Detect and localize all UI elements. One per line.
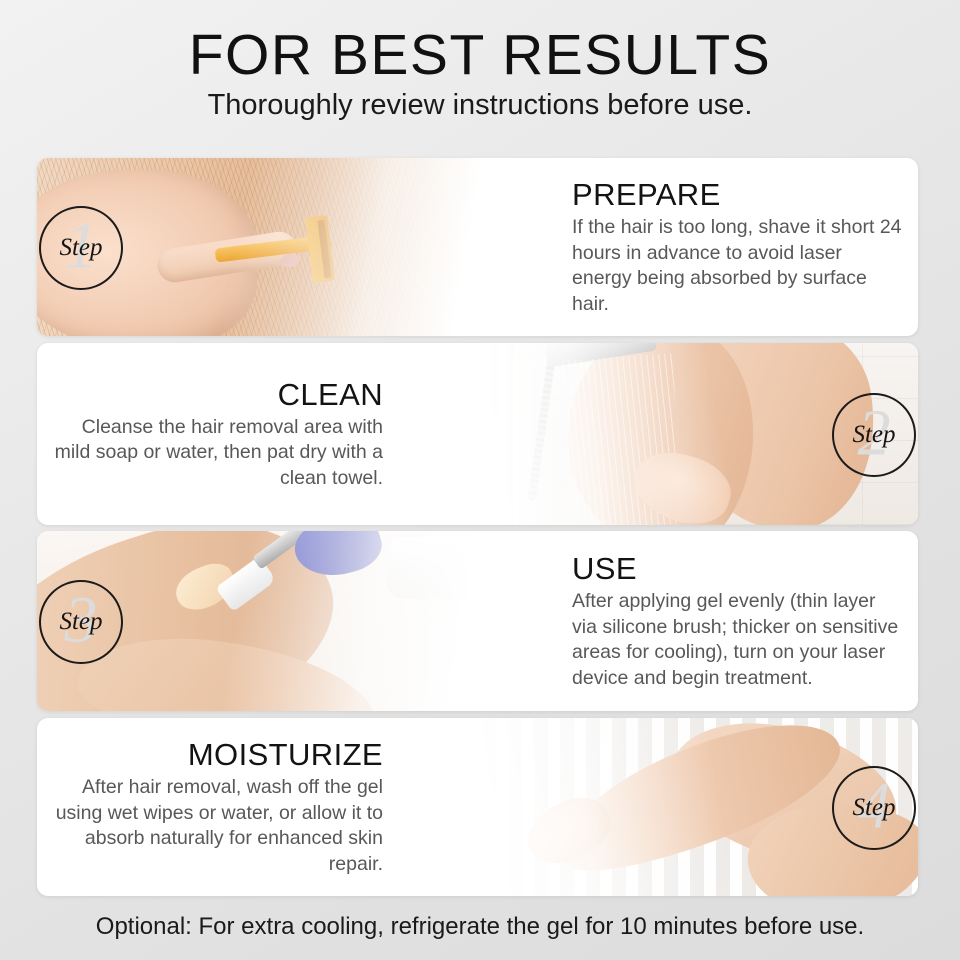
hand-shape <box>625 441 739 525</box>
step-word-3: Step <box>41 608 121 636</box>
step-3-title: USE <box>572 551 637 587</box>
step-card-3: 3 Step USE After applying gel evenly (th… <box>37 531 918 711</box>
step-1-title: PREPARE <box>572 177 721 213</box>
razor-blade-shape <box>317 220 331 278</box>
step-3-text: USE After applying gel evenly (thin laye… <box>478 531 918 711</box>
step-badge-1: 1 Step <box>39 206 123 290</box>
step-badge-4: 4 Step <box>832 766 916 850</box>
step-card-4: 4 Step MOISTURIZE After hair removal, wa… <box>37 718 918 896</box>
step-1-body: If the hair is too long, shave it short … <box>572 215 904 317</box>
showerhead-shape <box>545 343 657 367</box>
footer-note: Optional: For extra cooling, refrigerate… <box>0 912 960 942</box>
step-card-2: 2 Step CLEAN Cleanse the hair removal ar… <box>37 343 918 525</box>
step-card-1: 1 Step PREPARE If the hair is too long, … <box>37 158 918 336</box>
step-badge-3: 3 Step <box>39 580 123 664</box>
silicone-brush-shape <box>215 556 276 612</box>
fingernail-shape <box>279 252 301 269</box>
step-word-1: Step <box>41 234 121 262</box>
knee-shape <box>714 736 800 816</box>
header: FOR BEST RESULTS Thoroughly review instr… <box>0 24 960 122</box>
step-1-text: PREPARE If the hair is too long, shave i… <box>478 158 918 336</box>
step-2-text: CLEAN Cleanse the hair removal area with… <box>37 343 477 525</box>
gel-smear-shape <box>170 557 241 617</box>
finger-shape <box>155 229 299 284</box>
step-4-text: MOISTURIZE After hair removal, wash off … <box>37 718 477 896</box>
gloved-hand-shape <box>289 531 388 586</box>
step-2-title: CLEAN <box>278 377 383 413</box>
leg-shape <box>556 343 764 525</box>
hand-shape <box>517 784 620 877</box>
shin-shape <box>541 718 855 896</box>
water-spray-shape <box>562 353 684 525</box>
brush-handle-shape <box>252 531 308 570</box>
step-word-4: Step <box>834 794 914 822</box>
page-subtitle: Thoroughly review instructions before us… <box>0 88 960 122</box>
page-title: FOR BEST RESULTS <box>0 24 960 86</box>
step-word-2: Step <box>834 421 914 449</box>
razor-head-shape <box>305 215 335 283</box>
step-badge-2: 2 Step <box>832 393 916 477</box>
step-2-body: Cleanse the hair removal area with mild … <box>51 415 383 492</box>
infographic-page: FOR BEST RESULTS Thoroughly review instr… <box>0 0 960 960</box>
razor-handle-shape <box>215 235 326 262</box>
step-4-title: MOISTURIZE <box>188 737 383 773</box>
step-3-body: After applying gel evenly (thin layer vi… <box>572 589 904 691</box>
step-4-body: After hair removal, wash off the gel usi… <box>51 775 383 877</box>
shower-hose-shape <box>528 351 557 501</box>
